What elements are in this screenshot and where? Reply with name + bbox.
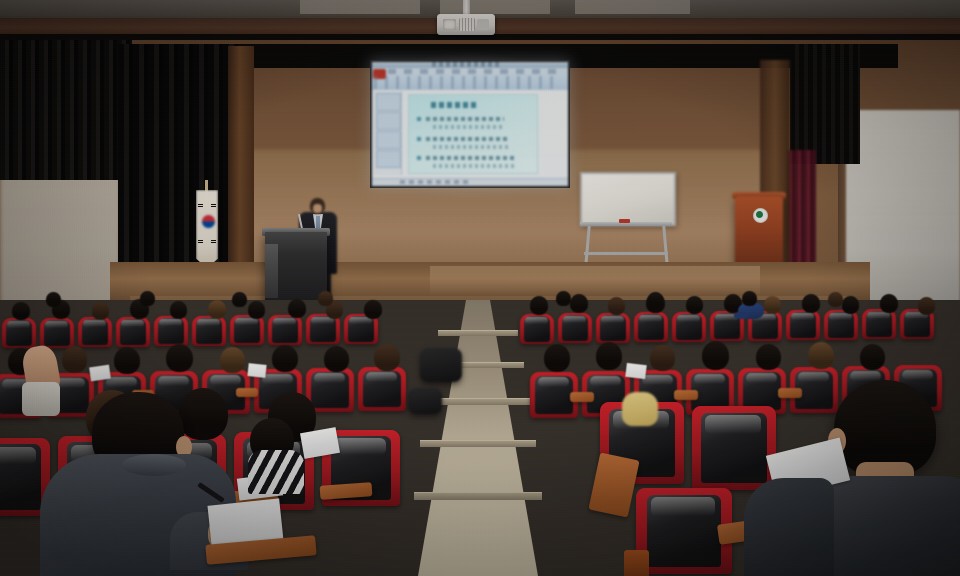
stage-curtain-left-inner <box>118 44 238 294</box>
raised-arm-sleeve <box>22 382 60 416</box>
ribbon-icons <box>374 76 560 89</box>
attendee-head <box>220 347 245 373</box>
flag-trigram-icon <box>211 240 216 243</box>
lectern-emblem-center-icon <box>756 211 763 218</box>
attendee-head <box>324 346 349 372</box>
slide-bullet-line <box>426 156 514 160</box>
cap-brim-icon <box>734 312 748 319</box>
slide-bullet-subline <box>433 164 517 168</box>
attendee-head <box>232 292 247 307</box>
wooden-lectern <box>735 196 783 266</box>
auditorium-seat <box>862 309 896 339</box>
yellow-item-on-seat <box>622 392 658 426</box>
handout-paper <box>247 363 266 378</box>
left-wall-panel <box>0 170 120 305</box>
speaker-face <box>313 204 322 213</box>
slide-bullet-line <box>426 117 504 121</box>
attendee-head <box>374 344 400 371</box>
maroon-curtain <box>786 150 816 270</box>
ribbon-tabs <box>388 69 558 74</box>
handout-paper <box>89 365 111 382</box>
attendee-head <box>114 347 140 374</box>
handout-paper <box>625 363 647 379</box>
slide-bullet-subline <box>433 145 509 149</box>
attendee-head <box>544 344 570 372</box>
attendee-head <box>742 291 757 306</box>
lecture-hall-photo <box>0 0 960 576</box>
slide-title <box>431 102 477 108</box>
ceiling-light-panel <box>440 0 550 14</box>
attendee-head <box>318 291 333 306</box>
attendee-head <box>62 346 87 373</box>
stage-curtain-left <box>0 40 132 180</box>
slide-bullet-marker <box>417 117 421 121</box>
whiteboard <box>580 172 676 226</box>
attendee-head <box>756 344 781 370</box>
flag-trigram-icon <box>198 204 203 207</box>
slide-thumbnail <box>376 112 401 130</box>
current-slide <box>408 94 538 174</box>
projector-lens-icon <box>443 19 456 30</box>
attendee-head <box>140 291 155 306</box>
flag-trigram-icon <box>198 240 203 243</box>
slide-bullet-marker <box>417 137 421 141</box>
attendee-head <box>596 342 622 370</box>
flag-taeguk-icon <box>202 215 215 228</box>
backpack <box>420 348 462 382</box>
aisle-step <box>438 330 518 336</box>
whiteboard-crossbar <box>584 252 668 255</box>
stage-curtain-right <box>790 44 860 164</box>
projector-vent-icon <box>459 18 475 31</box>
attendee-head <box>648 292 663 307</box>
slide-thumbnail-pane <box>373 91 402 175</box>
attendee-head <box>272 345 298 372</box>
attendee-head <box>702 341 729 370</box>
ceiling-light-panel <box>575 0 690 14</box>
attendee-head <box>808 342 834 369</box>
wood-pillar-left <box>228 46 254 296</box>
presentation-title-text <box>432 62 502 67</box>
attendee-head <box>860 344 885 370</box>
presentation-status-text <box>400 180 470 184</box>
south-korean-flag-icon <box>196 190 218 268</box>
slide-thumbnail <box>376 150 401 168</box>
slide-thumbnail <box>376 93 401 111</box>
attendee-head <box>166 344 193 372</box>
attendee-head <box>46 292 61 307</box>
slide-thumbnail <box>376 131 401 149</box>
slide-bullet-line <box>426 137 508 141</box>
attendee-head <box>650 345 675 371</box>
back-row-heads <box>0 286 960 312</box>
ceiling-light-panel <box>300 0 420 14</box>
slide-bullet-subline <box>433 125 505 129</box>
attendee-head <box>828 292 843 307</box>
seat-writing-tablet <box>570 392 594 402</box>
projection-screen <box>372 62 568 186</box>
attendee-head <box>556 291 571 306</box>
slide-bullet-marker <box>417 156 421 160</box>
auditorium-seat <box>692 406 776 490</box>
reader-jacket-shoulder <box>744 478 834 576</box>
projector-side-icon <box>477 19 489 30</box>
note-taker-collar <box>122 454 186 476</box>
flag-trigram-icon <box>211 204 216 207</box>
whiteboard-marker-icon <box>619 219 630 223</box>
